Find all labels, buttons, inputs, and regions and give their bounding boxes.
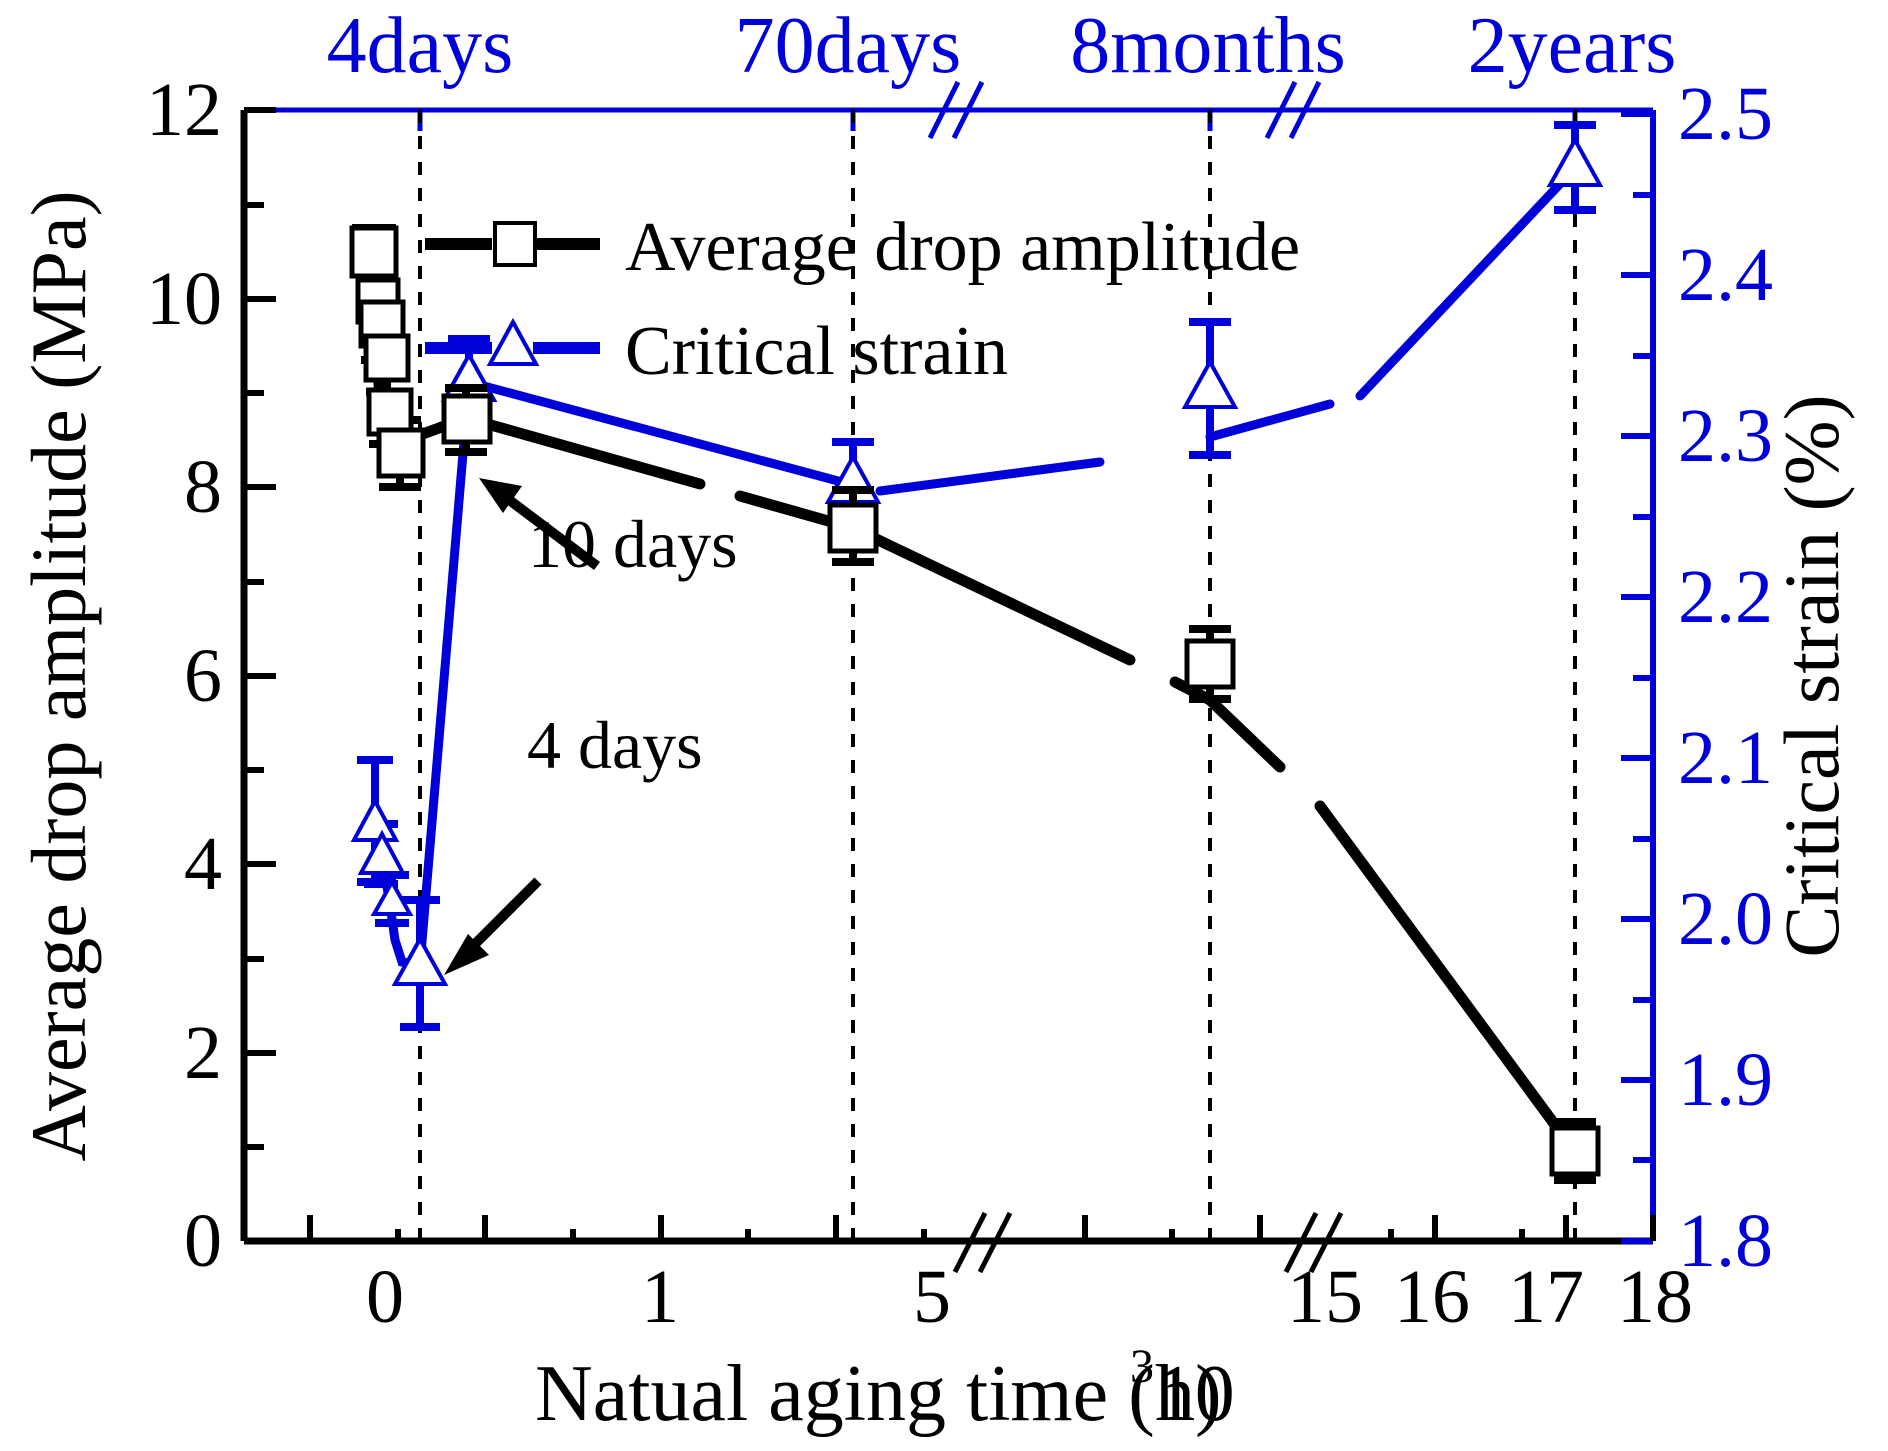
left-tick-0: 0 (184, 1199, 222, 1283)
left-tick-12: 12 (146, 68, 222, 152)
legend-label-critical-strain: Critical strain (625, 313, 1008, 390)
x-tick-0: 0 (366, 1255, 404, 1339)
square-open-marker (444, 396, 490, 442)
x-tick-1: 1 (641, 1255, 679, 1339)
bottom-axis-title: Natual aging time (10 3 h) (535, 1340, 1235, 1438)
right-tick-2-1: 2.1 (1678, 716, 1773, 800)
top-tick-70days: 70days (735, 2, 962, 90)
chart-svg: Average drop amplitude Critical strain 1… (0, 0, 1888, 1451)
square-open-marker (1552, 1128, 1598, 1174)
x-tick-5: 5 (913, 1255, 951, 1339)
left-tick-10: 10 (146, 257, 222, 341)
right-tick-2-3: 2.3 (1678, 394, 1773, 478)
legend-label-avg-drop-amplitude: Average drop amplitude (625, 209, 1300, 286)
right-tick-2-0: 2.0 (1678, 877, 1773, 961)
right-axis-title: Critical strain (%) (1768, 394, 1855, 957)
left-axis-title: Average drop amplitude (MPa) (15, 190, 102, 1161)
x-tick-18: 18 (1617, 1255, 1693, 1339)
top-tick-8months: 8months (1070, 2, 1346, 90)
right-tick-2-5: 2.5 (1678, 72, 1773, 156)
top-tick-4days: 4days (327, 2, 514, 90)
x-tick-15: 15 (1287, 1255, 1363, 1339)
bottom-axis-title-post: h) (1155, 1350, 1222, 1438)
left-tick-6: 6 (184, 634, 222, 718)
right-tick-2-2: 2.2 (1678, 555, 1773, 639)
square-open-marker (379, 430, 423, 476)
annotation-4-days-label: 4 days (527, 707, 703, 783)
square-open-marker (830, 505, 876, 551)
square-open-marker (1187, 641, 1233, 687)
figure-container: Average drop amplitude Critical strain 1… (0, 0, 1888, 1451)
annotation-10-days-label: 10 days (528, 506, 738, 582)
left-tick-4: 4 (184, 822, 222, 906)
square-open-marker (352, 228, 396, 276)
right-tick-2-4: 2.4 (1678, 233, 1773, 317)
square-open-marker (369, 390, 411, 434)
left-tick-2: 2 (184, 1011, 222, 1095)
right-tick-1-9: 1.9 (1678, 1038, 1773, 1122)
square-open-marker (366, 336, 408, 380)
top-tick-2years: 2years (1468, 2, 1677, 90)
left-tick-8: 8 (184, 445, 222, 529)
square-open-marker (495, 223, 535, 265)
bottom-axis-title-sup: 3 (1130, 1340, 1154, 1393)
x-tick-16: 16 (1394, 1255, 1470, 1339)
x-tick-17: 17 (1508, 1255, 1584, 1339)
